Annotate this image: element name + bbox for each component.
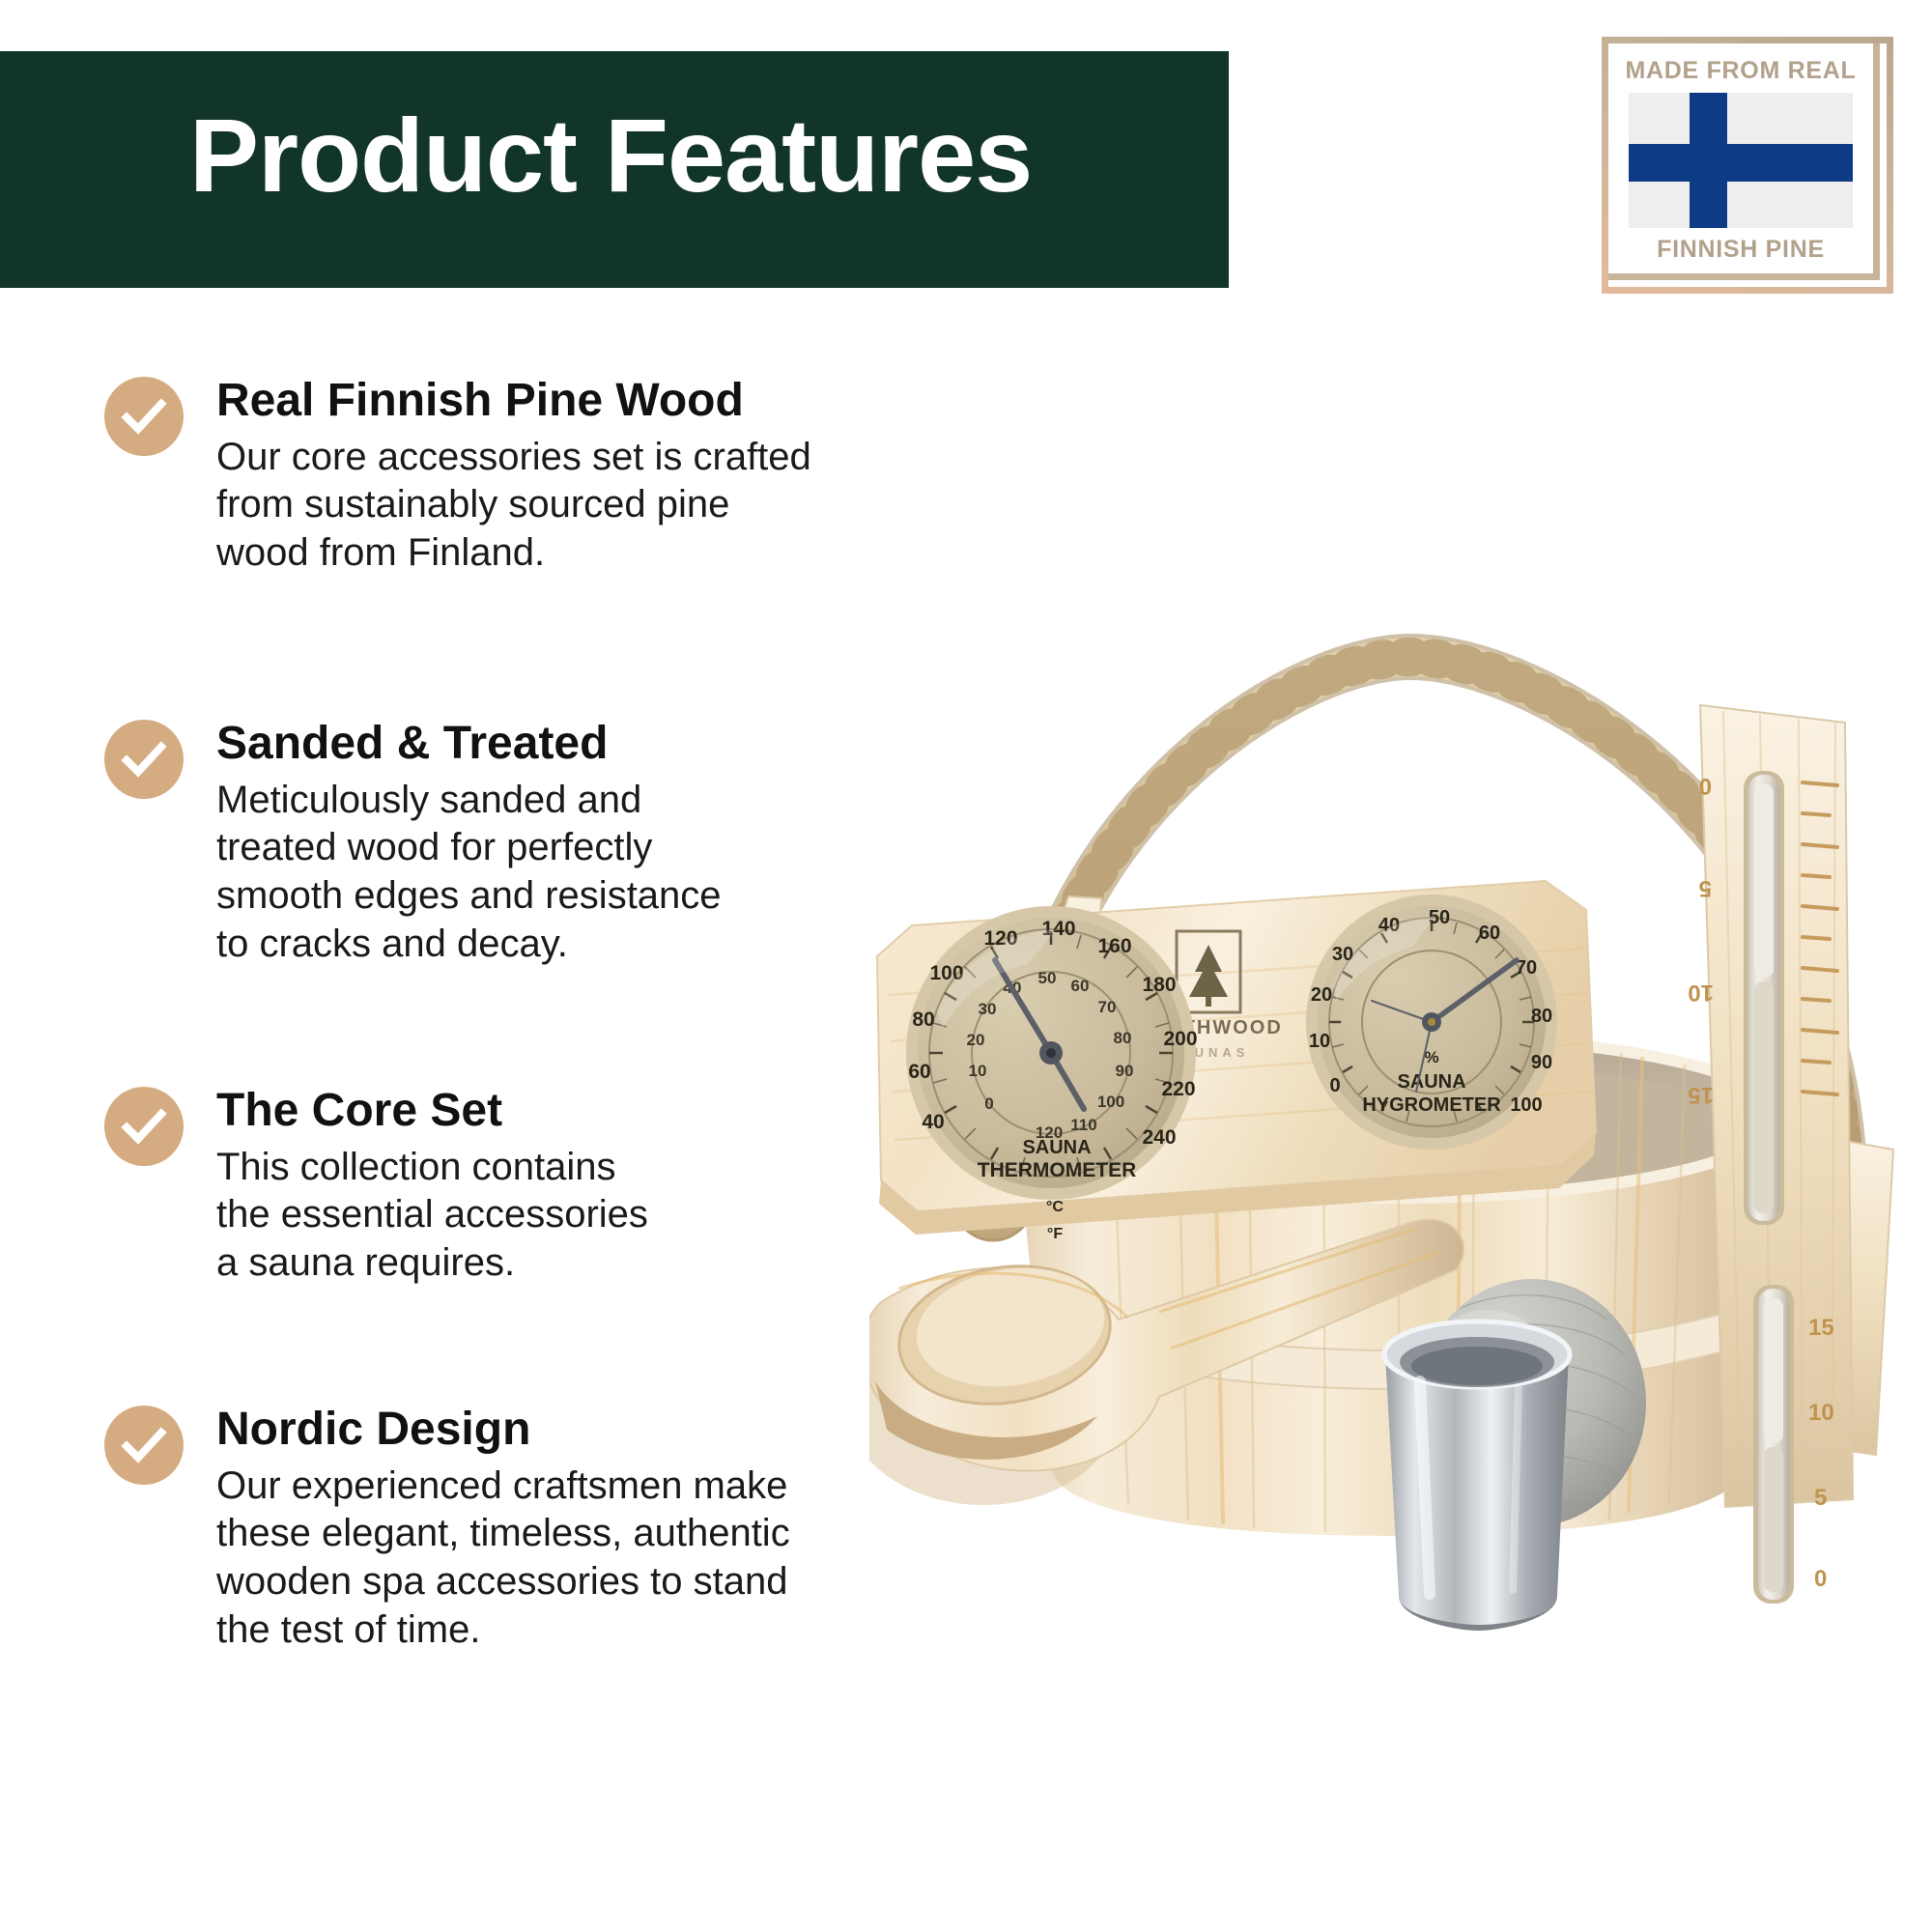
svg-text:0: 0	[1329, 1075, 1340, 1096]
check-icon	[104, 1087, 184, 1166]
feature-body-2: Meticulously sanded and treated wood for…	[216, 777, 722, 968]
svg-text:110: 110	[1070, 1116, 1096, 1134]
svg-text:0: 0	[984, 1094, 993, 1113]
check-icon	[104, 377, 184, 456]
svg-text:80: 80	[912, 1009, 934, 1031]
steel-cup-graphic	[1384, 1321, 1570, 1631]
feature-item-1: Real Finnish Pine Wood Our core accessor…	[104, 377, 811, 578]
svg-text:60: 60	[1479, 923, 1500, 944]
svg-text:%: %	[1424, 1048, 1438, 1066]
feature-text-1: Real Finnish Pine Wood Our core accessor…	[216, 377, 811, 578]
svg-text:80: 80	[1114, 1029, 1132, 1047]
svg-text:HYGROMETER: HYGROMETER	[1362, 1094, 1501, 1116]
svg-text:160: 160	[1097, 935, 1131, 957]
svg-text:10: 10	[969, 1062, 987, 1080]
svg-text:0: 0	[1814, 1566, 1827, 1592]
feature-text-4: Nordic Design Our experienced craftsmen …	[216, 1406, 790, 1654]
feature-text-3: The Core Set This collection contains th…	[216, 1087, 648, 1288]
svg-text:90: 90	[1531, 1052, 1552, 1073]
svg-text:80: 80	[1531, 1006, 1552, 1027]
check-icon	[104, 720, 184, 799]
finnish-pine-badge: MADE FROM REAL FINNISH PINE	[1602, 37, 1880, 280]
sauna-hygrometer-dial: 010 2030 4050 6070 8090 100 % SAUNA HYGR…	[1306, 895, 1557, 1150]
badge-bottom-label: FINNISH PINE	[1657, 236, 1825, 264]
svg-text:10: 10	[1808, 1400, 1834, 1426]
badge-top-label: MADE FROM REAL	[1626, 57, 1857, 85]
svg-text:SAUNA: SAUNA	[1022, 1137, 1091, 1158]
feature-text-2: Sanded & Treated Meticulously sanded and…	[216, 720, 722, 968]
flag-cross-horizontal	[1629, 144, 1853, 182]
feature-title-1: Real Finnish Pine Wood	[216, 377, 811, 426]
svg-text:15: 15	[1808, 1315, 1834, 1341]
svg-text:SAUNA: SAUNA	[1397, 1071, 1465, 1093]
svg-text:240: 240	[1142, 1126, 1176, 1149]
svg-text:100: 100	[1510, 1094, 1542, 1116]
svg-text:100: 100	[1097, 1093, 1124, 1111]
page-title: Product Features	[189, 100, 1032, 210]
svg-text:60: 60	[908, 1061, 930, 1083]
svg-text:30: 30	[979, 1000, 997, 1018]
svg-text:5: 5	[1814, 1485, 1827, 1511]
feature-item-4: Nordic Design Our experienced craftsmen …	[104, 1406, 790, 1654]
infographic-canvas: Product Features MADE FROM REAL FINNISH …	[0, 0, 1932, 1932]
feature-title-3: The Core Set	[216, 1087, 648, 1136]
svg-text:70: 70	[1098, 998, 1117, 1016]
feature-body-3: This collection contains the essential a…	[216, 1144, 648, 1288]
svg-text:0: 0	[1699, 773, 1712, 799]
feature-title-2: Sanded & Treated	[216, 720, 722, 769]
svg-text:°F: °F	[1047, 1226, 1063, 1242]
svg-text:50: 50	[1038, 969, 1057, 987]
svg-text:THERMOMETER: THERMOMETER	[978, 1159, 1137, 1181]
feature-item-2: Sanded & Treated Meticulously sanded and…	[104, 720, 722, 968]
svg-text:°C: °C	[1046, 1199, 1064, 1215]
product-photo: 0 5 10 15 15 10 5 0	[869, 415, 1932, 1787]
svg-text:90: 90	[1116, 1062, 1134, 1080]
feature-body-1: Our core accessories set is crafted from…	[216, 434, 811, 578]
feature-body-4: Our experienced craftsmen make these ele…	[216, 1463, 790, 1654]
feature-item-3: The Core Set This collection contains th…	[104, 1087, 648, 1288]
svg-text:15: 15	[1688, 1082, 1714, 1108]
svg-text:180: 180	[1142, 974, 1176, 996]
svg-text:20: 20	[967, 1031, 985, 1049]
svg-text:60: 60	[1071, 977, 1090, 995]
svg-text:10: 10	[1688, 980, 1714, 1006]
svg-text:200: 200	[1163, 1028, 1197, 1050]
svg-text:220: 220	[1161, 1078, 1195, 1100]
svg-text:20: 20	[1311, 984, 1332, 1006]
thermometer-hygrometer-panel: NORTHWOOD SAUNAS	[877, 881, 1596, 1242]
svg-text:40: 40	[922, 1111, 944, 1133]
feature-title-4: Nordic Design	[216, 1406, 790, 1455]
finland-flag-icon	[1629, 93, 1853, 228]
svg-text:10: 10	[1309, 1031, 1330, 1052]
check-icon	[104, 1406, 184, 1485]
svg-text:5: 5	[1699, 875, 1712, 901]
